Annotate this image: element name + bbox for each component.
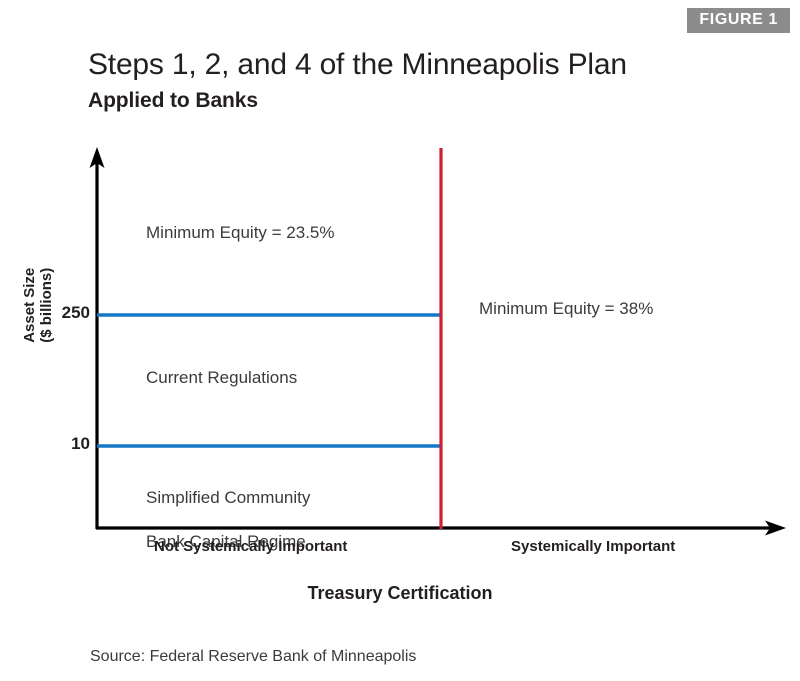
y-axis: [90, 147, 105, 529]
source-note: Source: Federal Reserve Bank of Minneapo…: [90, 648, 416, 666]
y-tick-label-250: 250: [32, 303, 90, 323]
region-label-line1: Simplified Community: [146, 487, 310, 509]
x-category-label-systemically-important: Systemically Important: [511, 538, 675, 555]
chart-canvas: [0, 0, 800, 681]
region-label-current-regulations: Current Regulations: [146, 367, 297, 389]
region-label-minimum-equity-systemic: Minimum Equity = 38%: [479, 298, 653, 320]
x-category-label-not-systemically-important: Not Systemically Important: [154, 538, 347, 555]
region-label-minimum-equity-non-systemic: Minimum Equity = 23.5%: [146, 222, 335, 244]
x-axis-title: Treasury Certification: [0, 583, 800, 604]
region-label-simplified-community-bank-capital-regime: Simplified Community Bank Capital Regime: [146, 465, 310, 575]
chart-svg: [0, 0, 800, 681]
y-tick-label-10: 10: [32, 434, 90, 454]
figure-page: FIGURE 1 Steps 1, 2, and 4 of the Minnea…: [0, 0, 800, 681]
